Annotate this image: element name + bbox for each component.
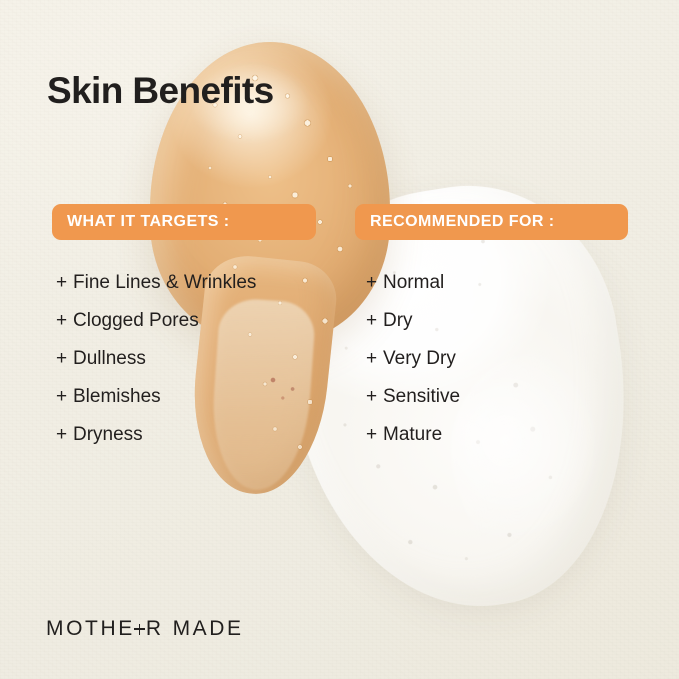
brand-logo-part-3: MADE <box>173 617 244 641</box>
list-item: + Sensitive <box>366 386 460 424</box>
list-item-label: Dry <box>383 310 413 332</box>
list-item: + Dry <box>366 310 460 348</box>
list-item-label: Dryness <box>73 424 143 446</box>
list-item: + Blemishes <box>56 386 256 424</box>
header-bar-recommended-for: RECOMMENDED FOR : <box>355 204 628 240</box>
list-item: + Fine Lines & Wrinkles <box>56 272 256 310</box>
list-item: + Mature <box>366 424 460 462</box>
header-label-recommended-for: RECOMMENDED FOR : <box>370 213 555 231</box>
page-title: Skin Benefits <box>47 69 274 113</box>
brand-logo-part-1: MOTHE <box>46 617 135 641</box>
plus-bullet-icon: + <box>56 386 73 408</box>
header-label-what-it-targets: WHAT IT TARGETS : <box>67 213 230 231</box>
list-item: + Clogged Pores <box>56 310 256 348</box>
brand-logo: MOTHE R MADE <box>46 617 244 641</box>
list-item: + Dryness <box>56 424 256 462</box>
list-item-label: Very Dry <box>383 348 456 370</box>
plus-bullet-icon: + <box>366 348 383 370</box>
plus-bullet-icon: + <box>366 310 383 332</box>
list-item-label: Fine Lines & Wrinkles <box>73 272 256 294</box>
list-item-label: Sensitive <box>383 386 460 408</box>
list-item: + Normal <box>366 272 460 310</box>
list-recommended-for: + Normal + Dry + Very Dry + Sensitive + … <box>366 272 460 462</box>
list-item-label: Blemishes <box>73 386 161 408</box>
plus-bullet-icon: + <box>366 424 383 446</box>
header-bar-what-it-targets: WHAT IT TARGETS : <box>52 204 316 240</box>
list-what-it-targets: + Fine Lines & Wrinkles + Clogged Pores … <box>56 272 256 462</box>
content-layer: Skin Benefits WHAT IT TARGETS : RECOMMEN… <box>0 0 679 679</box>
list-item-label: Normal <box>383 272 444 294</box>
list-item: + Very Dry <box>366 348 460 386</box>
plus-icon <box>134 624 145 635</box>
plus-bullet-icon: + <box>56 310 73 332</box>
list-item-label: Mature <box>383 424 442 446</box>
plus-bullet-icon: + <box>366 272 383 294</box>
plus-bullet-icon: + <box>56 348 73 370</box>
plus-bullet-icon: + <box>56 424 73 446</box>
brand-logo-part-2: R <box>146 617 164 641</box>
plus-bullet-icon: + <box>366 386 383 408</box>
list-item-label: Dullness <box>73 348 146 370</box>
infographic-canvas: Skin Benefits WHAT IT TARGETS : RECOMMEN… <box>0 0 679 679</box>
plus-bullet-icon: + <box>56 272 73 294</box>
list-item: + Dullness <box>56 348 256 386</box>
list-item-label: Clogged Pores <box>73 310 199 332</box>
